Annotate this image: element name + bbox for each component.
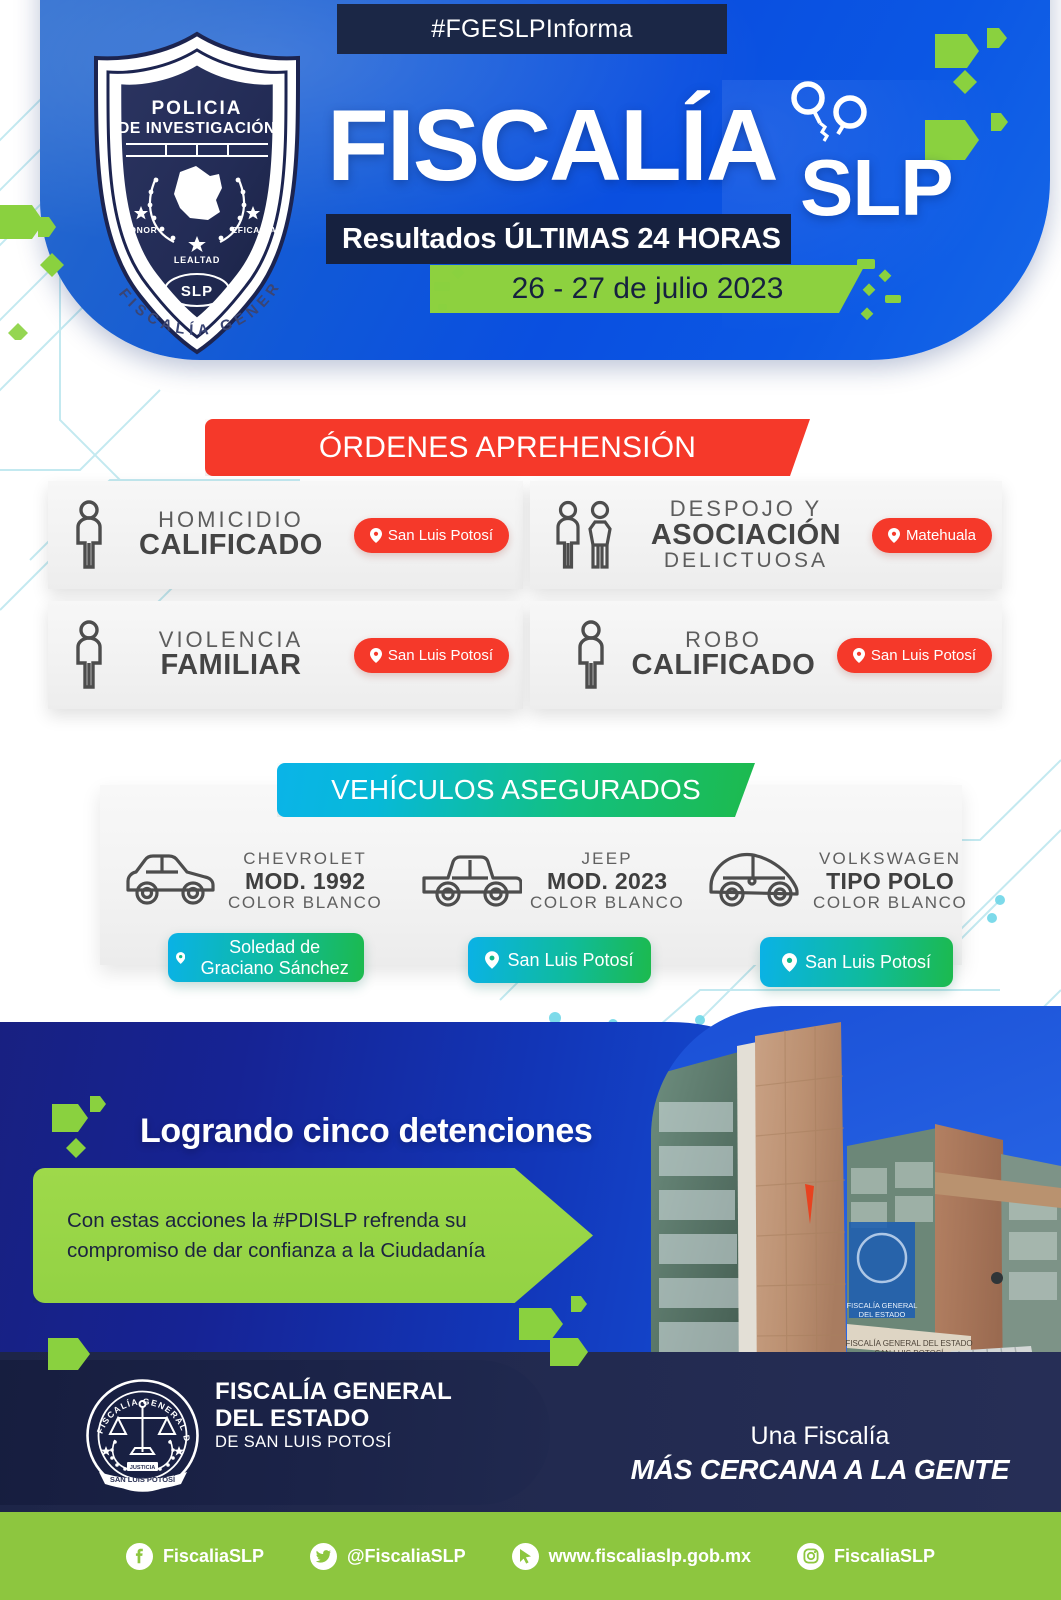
vehicle-color: COLOR BLANCO	[228, 894, 382, 913]
vehicle-details: CHEVROLET MOD. 1992 COLOR BLANCO	[228, 850, 382, 913]
emblem-center-label: JUSTICIA	[130, 1465, 156, 1471]
vehicle-model: MOD. 2023	[530, 869, 684, 894]
highlight-message-banner: Con estas acciones la #PDISLP refrenda s…	[33, 1168, 593, 1303]
social-facebook[interactable]: FiscaliaSLP	[126, 1543, 264, 1570]
pickup-truck-icon	[418, 848, 522, 915]
vehicle-entry-jeep[interactable]: JEEP MOD. 2023 COLOR BLANCO	[418, 848, 684, 915]
infographic-poster: #FGESLPInforma POLICIA DE INVESTIGACIÓN	[0, 0, 1061, 1600]
section-title-vehicles: VEHÍCULOS ASEGURADOS	[331, 774, 701, 806]
arrest-crime-mid: ASOCIACIÓN	[620, 521, 872, 551]
arrest-crime-mid: CALIFICADO	[108, 531, 354, 561]
badge-motto-bottom: LEALTAD	[174, 255, 220, 265]
arrest-crime-top: VIOLENCIA	[108, 629, 354, 651]
person-icon	[70, 619, 108, 691]
vehicle-details: JEEP MOD. 2023 COLOR BLANCO	[530, 850, 684, 913]
vehicle-entry-volkswagen[interactable]: VOLKSWAGEN TIPO POLO COLOR BLANCO	[705, 848, 967, 915]
handcuffs-icon	[784, 78, 876, 148]
highlight-message: Con estas acciones la #PDISLP refrenda s…	[33, 1206, 593, 1265]
hatchback-car-icon	[120, 848, 220, 915]
footer-slogan: Una Fiscalía MÁS CERCANA A LA GENTE	[600, 1422, 1040, 1486]
arrest-crime-top: ROBO	[610, 629, 837, 651]
arrest-crime-text: HOMICIDIO CALIFICADO	[108, 509, 354, 561]
emblem-arc-label: FISCALÍA GENERAL DEL ESTADO	[85, 1378, 192, 1443]
location-label: Matehuala	[906, 527, 976, 544]
arrest-crime-text: DESPOJO Y ASOCIACIÓN DELICTUOSA	[620, 498, 872, 571]
sedan-car-icon	[705, 848, 805, 915]
social-website[interactable]: www.fiscaliaslp.gob.mx	[512, 1543, 751, 1570]
emblem-ribbon-label: SAN LUIS POTOSÍ	[110, 1475, 176, 1484]
arrest-card-homicidio[interactable]: HOMICIDIO CALIFICADO San Luis Potosí	[48, 481, 523, 589]
arrest-crime-text: VIOLENCIA FAMILIAR	[108, 629, 354, 681]
vehicle-entry-chevrolet[interactable]: CHEVROLET MOD. 1992 COLOR BLANCO	[120, 848, 382, 915]
social-handle: FiscaliaSLP	[163, 1546, 264, 1567]
vehicle-location-label: Soledad de Graciano Sánchez	[193, 937, 356, 978]
building-photo: FISCALÍA GENERAL DEL ESTADO FISCALÍA GEN…	[651, 1006, 1061, 1411]
location-badge[interactable]: San Luis Potosí	[354, 638, 509, 673]
brand-title: FISCALÍA	[327, 96, 777, 197]
svg-text:FISCALÍA GENERAL: FISCALÍA GENERAL	[847, 1301, 918, 1310]
footer-org-line3: DE SAN LUIS POTOSÍ	[215, 1433, 452, 1452]
vehicle-location-badge[interactable]: Soledad de Graciano Sánchez	[168, 933, 364, 982]
map-pin-icon	[782, 953, 797, 972]
slogan-line2: MÁS CERCANA A LA GENTE	[600, 1454, 1040, 1486]
arrest-card-robo[interactable]: ROBO CALIFICADO San Luis Potosí	[530, 601, 1002, 709]
map-pin-icon	[370, 648, 382, 663]
social-media-bar: FiscaliaSLP @FiscaliaSLP www.fiscaliaslp…	[0, 1512, 1061, 1600]
two-person-icon	[552, 499, 620, 571]
arrest-card-despojo[interactable]: DESPOJO Y ASOCIACIÓN DELICTUOSA Matehual…	[530, 481, 1002, 589]
vehicle-brand: CHEVROLET	[228, 850, 382, 869]
vehicle-location-badge[interactable]: San Luis Potosí	[760, 937, 953, 987]
badge-line2: DE INVESTIGACIÓN	[118, 119, 276, 137]
badge-motto-left: HONOR	[123, 225, 158, 235]
brand-subtitle: SLP	[800, 148, 953, 228]
arrest-crime-mid: FAMILIAR	[108, 651, 354, 681]
results-label-plate: Resultados ÚLTIMAS 24 HORAS	[326, 214, 791, 264]
date-range-text: 26 - 27 de julio 2023	[512, 272, 784, 306]
website-cursor-icon	[512, 1543, 539, 1570]
badge-center-text: SLP	[181, 283, 213, 300]
social-handle: @FiscaliaSLP	[347, 1546, 466, 1567]
svg-text:FISCALÍA GENERAL DEL ESTADO: FISCALÍA GENERAL DEL ESTADO	[845, 1339, 972, 1348]
footer-org-text: FISCALÍA GENERAL DEL ESTADO DE SAN LUIS …	[215, 1378, 452, 1452]
map-pin-icon	[888, 528, 900, 543]
location-badge[interactable]: San Luis Potosí	[837, 638, 992, 673]
hashtag-text: #FGESLPInforma	[431, 15, 633, 44]
instagram-icon	[797, 1543, 824, 1570]
footer-org-line1: FISCALÍA GENERAL	[215, 1378, 452, 1405]
footer-org-line2: DEL ESTADO	[215, 1405, 452, 1432]
social-twitter[interactable]: @FiscaliaSLP	[310, 1543, 466, 1570]
vehicle-brand: VOLKSWAGEN	[813, 850, 967, 869]
highlight-headline: Logrando cinco detenciones	[140, 1112, 592, 1151]
vehicle-model: MOD. 1992	[228, 869, 382, 894]
vehicle-color: COLOR BLANCO	[530, 894, 684, 913]
results-label: Resultados ÚLTIMAS 24 HORAS	[342, 223, 781, 256]
map-pin-icon	[485, 951, 499, 969]
vehicle-model: TIPO POLO	[813, 869, 967, 894]
social-instagram[interactable]: FiscaliaSLP	[797, 1543, 935, 1570]
section-title-arrests: ÓRDENES APREHENSIÓN	[319, 431, 696, 465]
vehicle-color: COLOR BLANCO	[813, 894, 967, 913]
social-handle: www.fiscaliaslp.gob.mx	[549, 1546, 751, 1567]
police-badge-logo: POLICIA DE INVESTIGACIÓN	[70, 28, 325, 358]
twitter-icon	[310, 1543, 337, 1570]
slogan-line1: Una Fiscalía	[600, 1422, 1040, 1451]
location-label: San Luis Potosí	[388, 647, 493, 664]
person-icon	[70, 499, 108, 571]
vehicle-location-label: San Luis Potosí	[507, 950, 633, 971]
section-header-arrests: ÓRDENES APREHENSIÓN	[205, 419, 810, 476]
arrest-card-violencia[interactable]: VIOLENCIA FAMILIAR San Luis Potosí	[48, 601, 523, 709]
hexagon-decoration-footer-mid	[540, 1336, 620, 1386]
pixel-sparkle-left	[432, 262, 492, 316]
social-handle: FiscaliaSLP	[834, 1546, 935, 1567]
hashtag-plate: #FGESLPInforma	[337, 4, 727, 54]
location-label: San Luis Potosí	[388, 527, 493, 544]
map-pin-icon	[176, 949, 185, 967]
facebook-icon	[126, 1543, 153, 1570]
map-pin-icon	[370, 528, 382, 543]
pixel-sparkle-right	[855, 255, 925, 325]
person-icon	[572, 619, 610, 691]
badge-motto-right: EFICACIA	[232, 225, 277, 235]
vehicle-brand: JEEP	[530, 850, 684, 869]
arrest-crime-bottom: DELICTUOSA	[620, 550, 872, 571]
vehicle-location-badge[interactable]: San Luis Potosí	[468, 937, 651, 983]
fiscalia-general-emblem: FISCALÍA GENERAL DEL ESTADO	[85, 1378, 200, 1498]
badge-line1: POLICIA	[151, 98, 242, 119]
location-label: San Luis Potosí	[871, 647, 976, 664]
hexagon-decoration-footer-left	[40, 1336, 110, 1386]
section-header-vehicles: VEHÍCULOS ASEGURADOS	[277, 763, 755, 817]
arrest-crime-mid: CALIFICADO	[610, 651, 837, 681]
vehicle-location-label: San Luis Potosí	[805, 952, 931, 973]
arrest-crime-top: DESPOJO Y	[620, 498, 872, 520]
map-pin-icon	[853, 648, 865, 663]
vehicle-details: VOLKSWAGEN TIPO POLO COLOR BLANCO	[813, 850, 967, 913]
svg-text:DEL ESTADO: DEL ESTADO	[859, 1310, 906, 1319]
arrest-crime-text: ROBO CALIFICADO	[610, 629, 837, 681]
date-range-plate: 26 - 27 de julio 2023	[430, 265, 865, 313]
location-badge[interactable]: Matehuala	[872, 518, 992, 553]
hexagon-decoration-highlight	[42, 1090, 152, 1180]
location-badge[interactable]: San Luis Potosí	[354, 518, 509, 553]
arrest-crime-top: HOMICIDIO	[108, 509, 354, 531]
